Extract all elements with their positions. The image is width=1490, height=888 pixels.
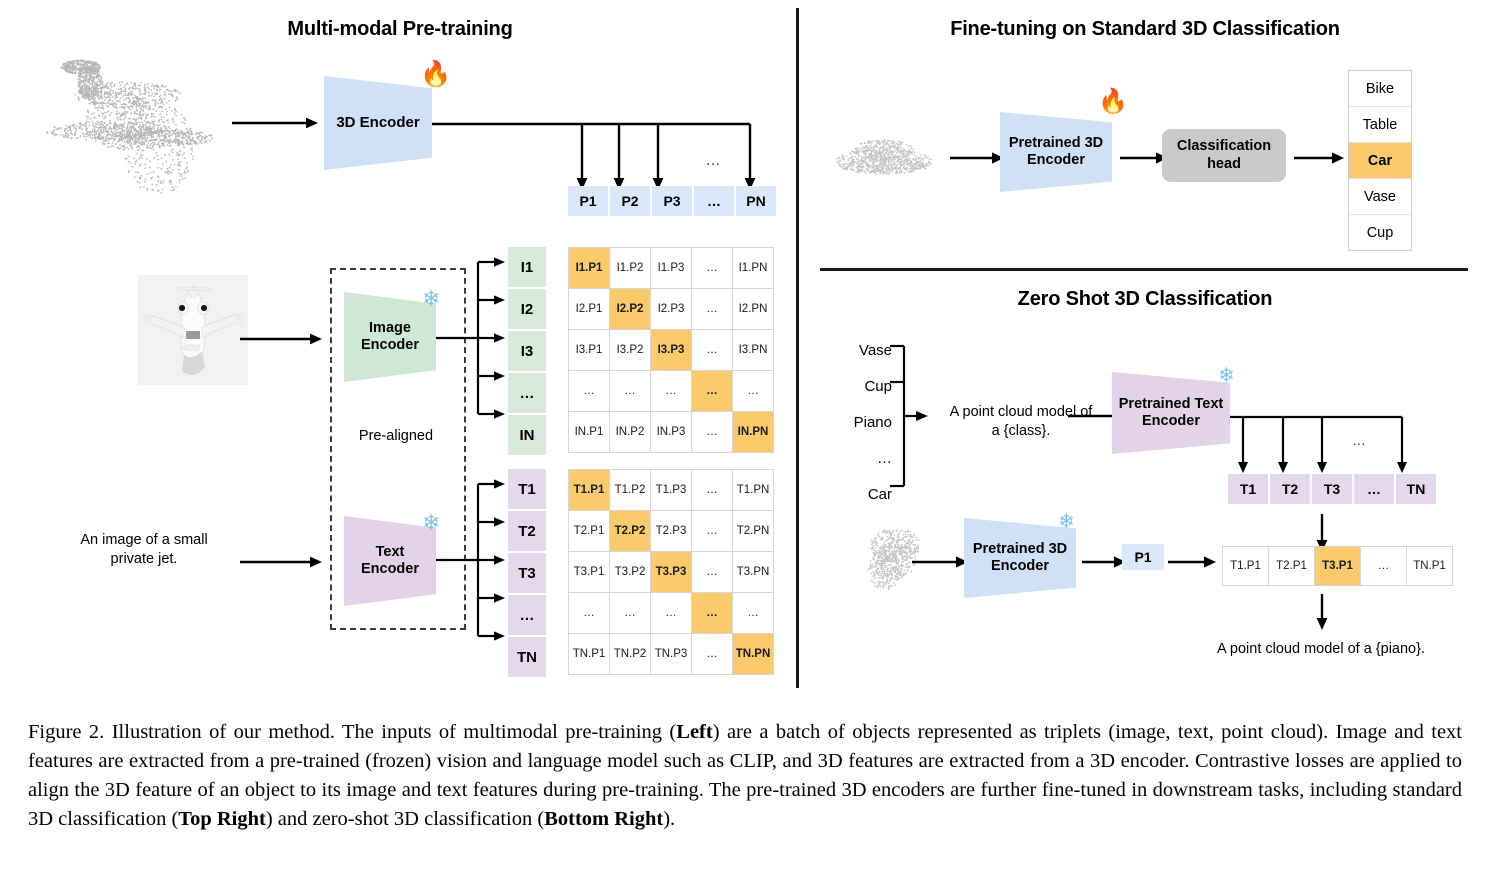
matrix-cell-4-1: TN.P2 xyxy=(610,634,650,674)
label-cell-2: I3 xyxy=(508,331,546,371)
matrix-cell-2-2: I3.P3 xyxy=(651,330,691,370)
token-cell-2: T3 xyxy=(1312,474,1352,504)
matrix-cell-4-4: IN.PN xyxy=(733,412,773,452)
matrix-cell-2-1: T3.P2 xyxy=(610,552,650,592)
zeroshot-result: A point cloud model of a {piano}. xyxy=(1176,640,1466,659)
matrix-cell-3-0: … xyxy=(569,593,609,633)
matrix-cell-4-4: TN.PN xyxy=(733,634,773,674)
bracket-classes-to-prompt xyxy=(888,342,928,490)
classification-head-label: Classification head xyxy=(1177,138,1271,173)
arrow-text-to-textencoder xyxy=(240,556,322,568)
class-list[interactable]: BikeTableCarVaseCup xyxy=(1348,70,1412,251)
matrix-cell-3-0: … xyxy=(569,371,609,411)
caption-b3: Bottom Right xyxy=(544,808,663,830)
snowflake-icon-text-encoder-zs: ❄ xyxy=(1218,366,1235,386)
pttext-line1: Pretrained Text xyxy=(1119,396,1224,412)
token-cell-1: T2 xyxy=(1270,474,1310,504)
text-encoder-line2: Encoder xyxy=(361,561,419,577)
label-cell-2: T3 xyxy=(508,553,546,593)
zeroshot-sim-cell-0: T1.P1 xyxy=(1223,547,1268,585)
matrix-cell-4-2: TN.P3 xyxy=(651,634,691,674)
matrix-cell-1-1: I2.P2 xyxy=(610,289,650,329)
matrix-cell-3-2: … xyxy=(651,371,691,411)
matrix-cell-4-2: IN.P3 xyxy=(651,412,691,452)
text-input-label: An image of a small private jet. xyxy=(30,531,258,569)
arrow-p1-to-simrow xyxy=(1168,556,1216,568)
point-token-row: P1P2P3…PN xyxy=(568,186,776,216)
pretrained-text-encoder-block: Pretrained Text Encoder xyxy=(1112,372,1230,454)
pretrained-text-encoder-label: Pretrained Text Encoder xyxy=(1119,396,1224,429)
token-cell-4: TN xyxy=(1396,474,1436,504)
matrix-cell-3-4: … xyxy=(733,371,773,411)
zeroshot-sim-cell-2: T3.P1 xyxy=(1315,547,1360,585)
zeroshot-class-0: Vase xyxy=(820,332,892,368)
matrix-cell-2-3: … xyxy=(692,330,732,370)
token-cell-0: P1 xyxy=(568,186,608,216)
matrix-cell-1-2: T2.P3 xyxy=(651,511,691,551)
arrow-head-to-classes xyxy=(1294,152,1344,164)
matrix-cell-4-0: TN.P1 xyxy=(569,634,609,674)
matrix-cell-0-4: T1.PN xyxy=(733,470,773,510)
arrow-piano-to-encoder xyxy=(912,556,968,568)
ellipsis-above-pn: … xyxy=(700,152,726,169)
matrix-cell-2-0: T3.P1 xyxy=(569,552,609,592)
prealigned-label: Pre-aligned xyxy=(334,428,458,444)
airplane-point-cloud xyxy=(25,52,225,232)
similarity-row: T1.P1T2.P1T3.P1…TN.P1 xyxy=(1222,546,1453,586)
matrix-cell-2-0: I3.P1 xyxy=(569,330,609,370)
arrow-encoder-to-p1 xyxy=(1082,556,1126,568)
clshead-line2: head xyxy=(1207,156,1241,172)
image-encoder-line1: Image xyxy=(369,320,411,336)
matrix-cell-1-3: … xyxy=(692,511,732,551)
matrix-cell-1-0: T2.P1 xyxy=(569,511,609,551)
matrix-cell-2-4: T3.PN xyxy=(733,552,773,592)
token-cell-1: P2 xyxy=(610,186,650,216)
text-encoder-label: Text Encoder xyxy=(361,544,419,577)
matrix-cell-3-4: … xyxy=(733,593,773,633)
matrix-cell-2-2: T3.P3 xyxy=(651,552,691,592)
text-label-column: T1T2T3…TN xyxy=(508,469,546,677)
car-point-cloud xyxy=(830,128,940,190)
label-cell-0: T1 xyxy=(508,469,546,509)
matrix-cell-3-3: … xyxy=(692,593,732,633)
pt3d-ft-line2: Encoder xyxy=(1027,152,1085,168)
label-cell-1: I2 xyxy=(508,289,546,329)
label-cell-3: … xyxy=(508,595,546,635)
matrix-cell-2-4: I3.PN xyxy=(733,330,773,370)
matrix-cell-1-0: I2.P1 xyxy=(569,289,609,329)
text-similarity-matrix: T1.P1T1.P2T1.P3…T1.PNT2.P1T2.P2T2.P3…T2.… xyxy=(568,469,774,675)
title-finetuning: Fine-tuning on Standard 3D Classificatio… xyxy=(840,18,1450,41)
arrow-image-to-imageencoder xyxy=(240,333,322,345)
label-cell-4: TN xyxy=(508,637,546,677)
matrix-cell-0-2: I1.P3 xyxy=(651,248,691,288)
image-similarity-matrix: I1.P1I1.P2I1.P3…I1.PNI2.P1I2.P2I2.P3…I2.… xyxy=(568,247,774,453)
matrix-cell-3-1: … xyxy=(610,593,650,633)
zeroshot-class-2: Piano xyxy=(820,404,892,440)
figure-canvas: Multi-modal Pre-training Fine-tuning on … xyxy=(0,0,1490,710)
caption-b1: Left xyxy=(676,721,712,743)
token-cell-3: … xyxy=(694,186,734,216)
token-cell-3: … xyxy=(1354,474,1394,504)
class-item-bike[interactable]: Bike xyxy=(1349,71,1411,107)
figure-caption: Figure 2. Illustration of our method. Th… xyxy=(28,718,1462,834)
matrix-cell-1-1: T2.P2 xyxy=(610,511,650,551)
matrix-cell-0-2: T1.P3 xyxy=(651,470,691,510)
snowflake-icon-3d-encoder-zs: ❄ xyxy=(1058,512,1075,532)
image-encoder-line2: Encoder xyxy=(361,337,419,353)
jet-image xyxy=(138,275,248,385)
ellipsis-above-tn: … xyxy=(1347,432,1371,448)
matrix-cell-3-2: … xyxy=(651,593,691,633)
text-token-row-zeroshot: T1T2T3…TN xyxy=(1228,474,1436,504)
text-input-line1: An image of a small xyxy=(80,532,207,548)
matrix-cell-1-4: I2.PN xyxy=(733,289,773,329)
caption-p3: ) and zero-shot 3D classification ( xyxy=(266,808,544,830)
pt3d-zs-line2: Encoder xyxy=(991,558,1049,574)
zeroshot-class-4: Car xyxy=(820,476,892,512)
zeroshot-sim-cell-1: T2.P1 xyxy=(1269,547,1314,585)
matrix-cell-4-1: IN.P2 xyxy=(610,412,650,452)
zeroshot-sim-cell-4: TN.P1 xyxy=(1407,547,1452,585)
arrow-encoder-to-head xyxy=(1120,152,1168,164)
classification-head-block: Classification head xyxy=(1162,129,1286,182)
prompt-line2: a {class}. xyxy=(992,423,1051,439)
zeroshot-class-list: VaseCupPiano…Car xyxy=(820,332,892,512)
pretrained-3d-encoder-zs-label: Pretrained 3D Encoder xyxy=(973,541,1067,574)
panel-divider-horizontal xyxy=(820,268,1468,271)
matrix-cell-4-0: IN.P1 xyxy=(569,412,609,452)
arrow-pointcloud-to-3dencoder xyxy=(232,117,318,129)
fanout-imageencoder-to-ilabels xyxy=(436,256,506,424)
arrow-car-to-pretrained3d xyxy=(950,152,1004,164)
matrix-cell-3-3: … xyxy=(692,371,732,411)
fanout-textencoder-to-tlabels xyxy=(436,478,506,646)
arrow-simrow-to-result xyxy=(1316,594,1328,630)
caption-p1: Figure 2. Illustration of our method. Th… xyxy=(28,721,676,743)
pt3d-zs-line1: Pretrained 3D xyxy=(973,541,1067,557)
class-item-cup[interactable]: Cup xyxy=(1349,215,1411,250)
caption-b2: Top Right xyxy=(178,808,266,830)
zeroshot-sim-cell-3: … xyxy=(1361,547,1406,585)
matrix-cell-2-3: … xyxy=(692,552,732,592)
zeroshot-class-1: Cup xyxy=(820,368,892,404)
matrix-cell-0-0: I1.P1 xyxy=(569,248,609,288)
class-item-vase[interactable]: Vase xyxy=(1349,179,1411,215)
matrix-cell-0-0: T1.P1 xyxy=(569,470,609,510)
matrix-cell-4-3: … xyxy=(692,412,732,452)
pt3d-ft-line1: Pretrained 3D xyxy=(1009,135,1103,151)
matrix-cell-1-3: … xyxy=(692,289,732,329)
class-item-car[interactable]: Car xyxy=(1349,143,1411,179)
encoder-3d-block: 3D Encoder xyxy=(324,76,432,170)
label-cell-4: IN xyxy=(508,415,546,455)
matrix-cell-3-1: … xyxy=(610,371,650,411)
text-input-line2: private jet. xyxy=(111,551,178,567)
fire-icon: 🔥 xyxy=(420,62,451,87)
caption-p4: ). xyxy=(663,808,675,830)
title-zeroshot: Zero Shot 3D Classification xyxy=(840,288,1450,311)
label-cell-0: I1 xyxy=(508,247,546,287)
pretrained-3d-encoder-finetune-label: Pretrained 3D Encoder xyxy=(1009,135,1103,168)
point-token-zeroshot: P1 xyxy=(1122,544,1164,570)
encoder-3d-label: 3D Encoder xyxy=(336,114,419,131)
label-cell-3: … xyxy=(508,373,546,413)
token-cell-4: PN xyxy=(736,186,776,216)
matrix-cell-1-4: T2.PN xyxy=(733,511,773,551)
pttext-line2: Encoder xyxy=(1142,413,1200,429)
fire-icon-finetune: 🔥 xyxy=(1098,90,1128,114)
image-encoder-label: Image Encoder xyxy=(361,320,419,353)
bus-textencoder-to-ttokens xyxy=(1230,412,1412,474)
matrix-cell-1-2: I2.P3 xyxy=(651,289,691,329)
image-label-column: I1I2I3…IN xyxy=(508,247,546,455)
label-cell-1: T2 xyxy=(508,511,546,551)
token-cell-2: P3 xyxy=(652,186,692,216)
matrix-cell-0-1: T1.P2 xyxy=(610,470,650,510)
text-encoder-line1: Text xyxy=(376,544,405,560)
clshead-line1: Classification xyxy=(1177,138,1271,154)
title-multimodal-pretraining: Multi-modal Pre-training xyxy=(150,18,650,41)
class-item-table[interactable]: Table xyxy=(1349,107,1411,143)
pretrained-3d-encoder-finetune: Pretrained 3D Encoder xyxy=(1000,112,1112,192)
panel-divider-vertical xyxy=(796,8,799,688)
matrix-cell-2-1: I3.P2 xyxy=(610,330,650,370)
matrix-cell-0-1: I1.P2 xyxy=(610,248,650,288)
matrix-cell-4-3: … xyxy=(692,634,732,674)
matrix-cell-0-3: … xyxy=(692,470,732,510)
token-cell-0: T1 xyxy=(1228,474,1268,504)
matrix-cell-0-4: I1.PN xyxy=(733,248,773,288)
zeroshot-class-3: … xyxy=(820,440,892,476)
matrix-cell-0-3: … xyxy=(692,248,732,288)
